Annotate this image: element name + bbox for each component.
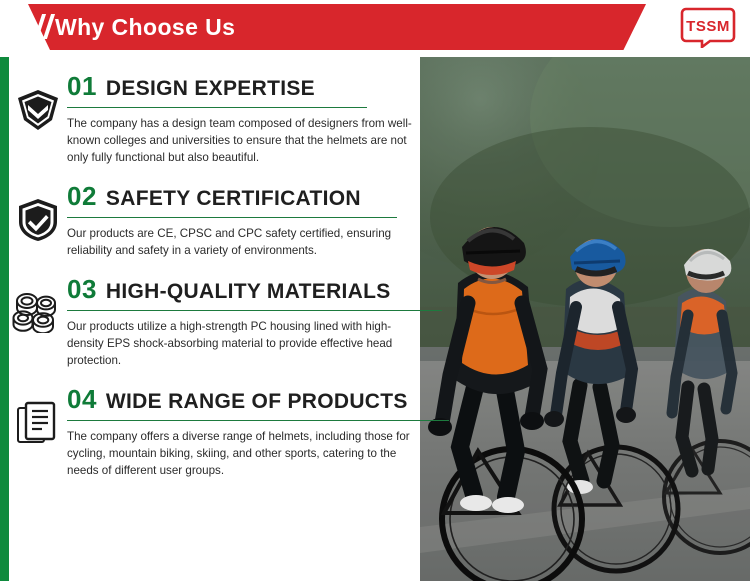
feature-number-03: 03 bbox=[67, 275, 97, 303]
feature-body-03: 03 HIGH-QUALITY MATERIALS Our products u… bbox=[67, 275, 459, 369]
feature-number-01: 01 bbox=[67, 72, 97, 100]
page-title: Why Choose Us bbox=[55, 10, 235, 44]
shield-check-icon bbox=[9, 182, 67, 244]
feature-description-02: Our products are CE, CPSC and CPC safety… bbox=[67, 225, 412, 259]
feature-title-04: WIDE RANGE OF PRODUCTS bbox=[106, 388, 408, 416]
feature-body-02: 02 SAFETY CERTIFICATION Our products are… bbox=[67, 182, 459, 259]
documents-icon bbox=[9, 385, 67, 447]
feature-item-02: 02 SAFETY CERTIFICATION Our products are… bbox=[9, 182, 459, 259]
feature-heading-02: 02 SAFETY CERTIFICATION bbox=[67, 182, 397, 218]
feature-number-04: 04 bbox=[67, 385, 97, 413]
svg-text:TSSM: TSSM bbox=[686, 18, 730, 35]
feature-item-04: 04 WIDE RANGE OF PRODUCTS The company of… bbox=[9, 385, 459, 479]
left-green-accent-bar bbox=[0, 57, 9, 581]
feature-heading-03: 03 HIGH-QUALITY MATERIALS bbox=[67, 275, 442, 311]
feature-title-03: HIGH-QUALITY MATERIALS bbox=[106, 278, 391, 306]
feature-description-04: The company offers a diverse range of he… bbox=[67, 428, 412, 479]
feature-description-01: The company has a design team composed o… bbox=[67, 115, 412, 166]
feature-title-01: DESIGN EXPERTISE bbox=[106, 75, 315, 103]
shield-chevron-icon bbox=[9, 72, 67, 134]
feature-number-02: 02 bbox=[67, 182, 97, 210]
feature-heading-04: 04 WIDE RANGE OF PRODUCTS bbox=[67, 385, 449, 421]
why-choose-us-page: Why Choose Us TSSM 01 bbox=[0, 0, 750, 581]
feature-description-03: Our products utilize a high-strength PC … bbox=[67, 318, 412, 369]
feature-title-02: SAFETY CERTIFICATION bbox=[106, 185, 361, 213]
feature-item-03: 03 HIGH-QUALITY MATERIALS Our products u… bbox=[9, 275, 459, 369]
page-header: Why Choose Us TSSM bbox=[0, 0, 750, 57]
features-list: 01 DESIGN EXPERTISE The company has a de… bbox=[9, 72, 459, 495]
feature-body-01: 01 DESIGN EXPERTISE The company has a de… bbox=[67, 72, 459, 166]
material-layers-icon bbox=[9, 275, 67, 333]
feature-item-01: 01 DESIGN EXPERTISE The company has a de… bbox=[9, 72, 459, 166]
cyclists-photo bbox=[420, 57, 750, 581]
feature-heading-01: 01 DESIGN EXPERTISE bbox=[67, 72, 367, 108]
tssm-logo: TSSM bbox=[680, 6, 736, 48]
feature-body-04: 04 WIDE RANGE OF PRODUCTS The company of… bbox=[67, 385, 459, 479]
